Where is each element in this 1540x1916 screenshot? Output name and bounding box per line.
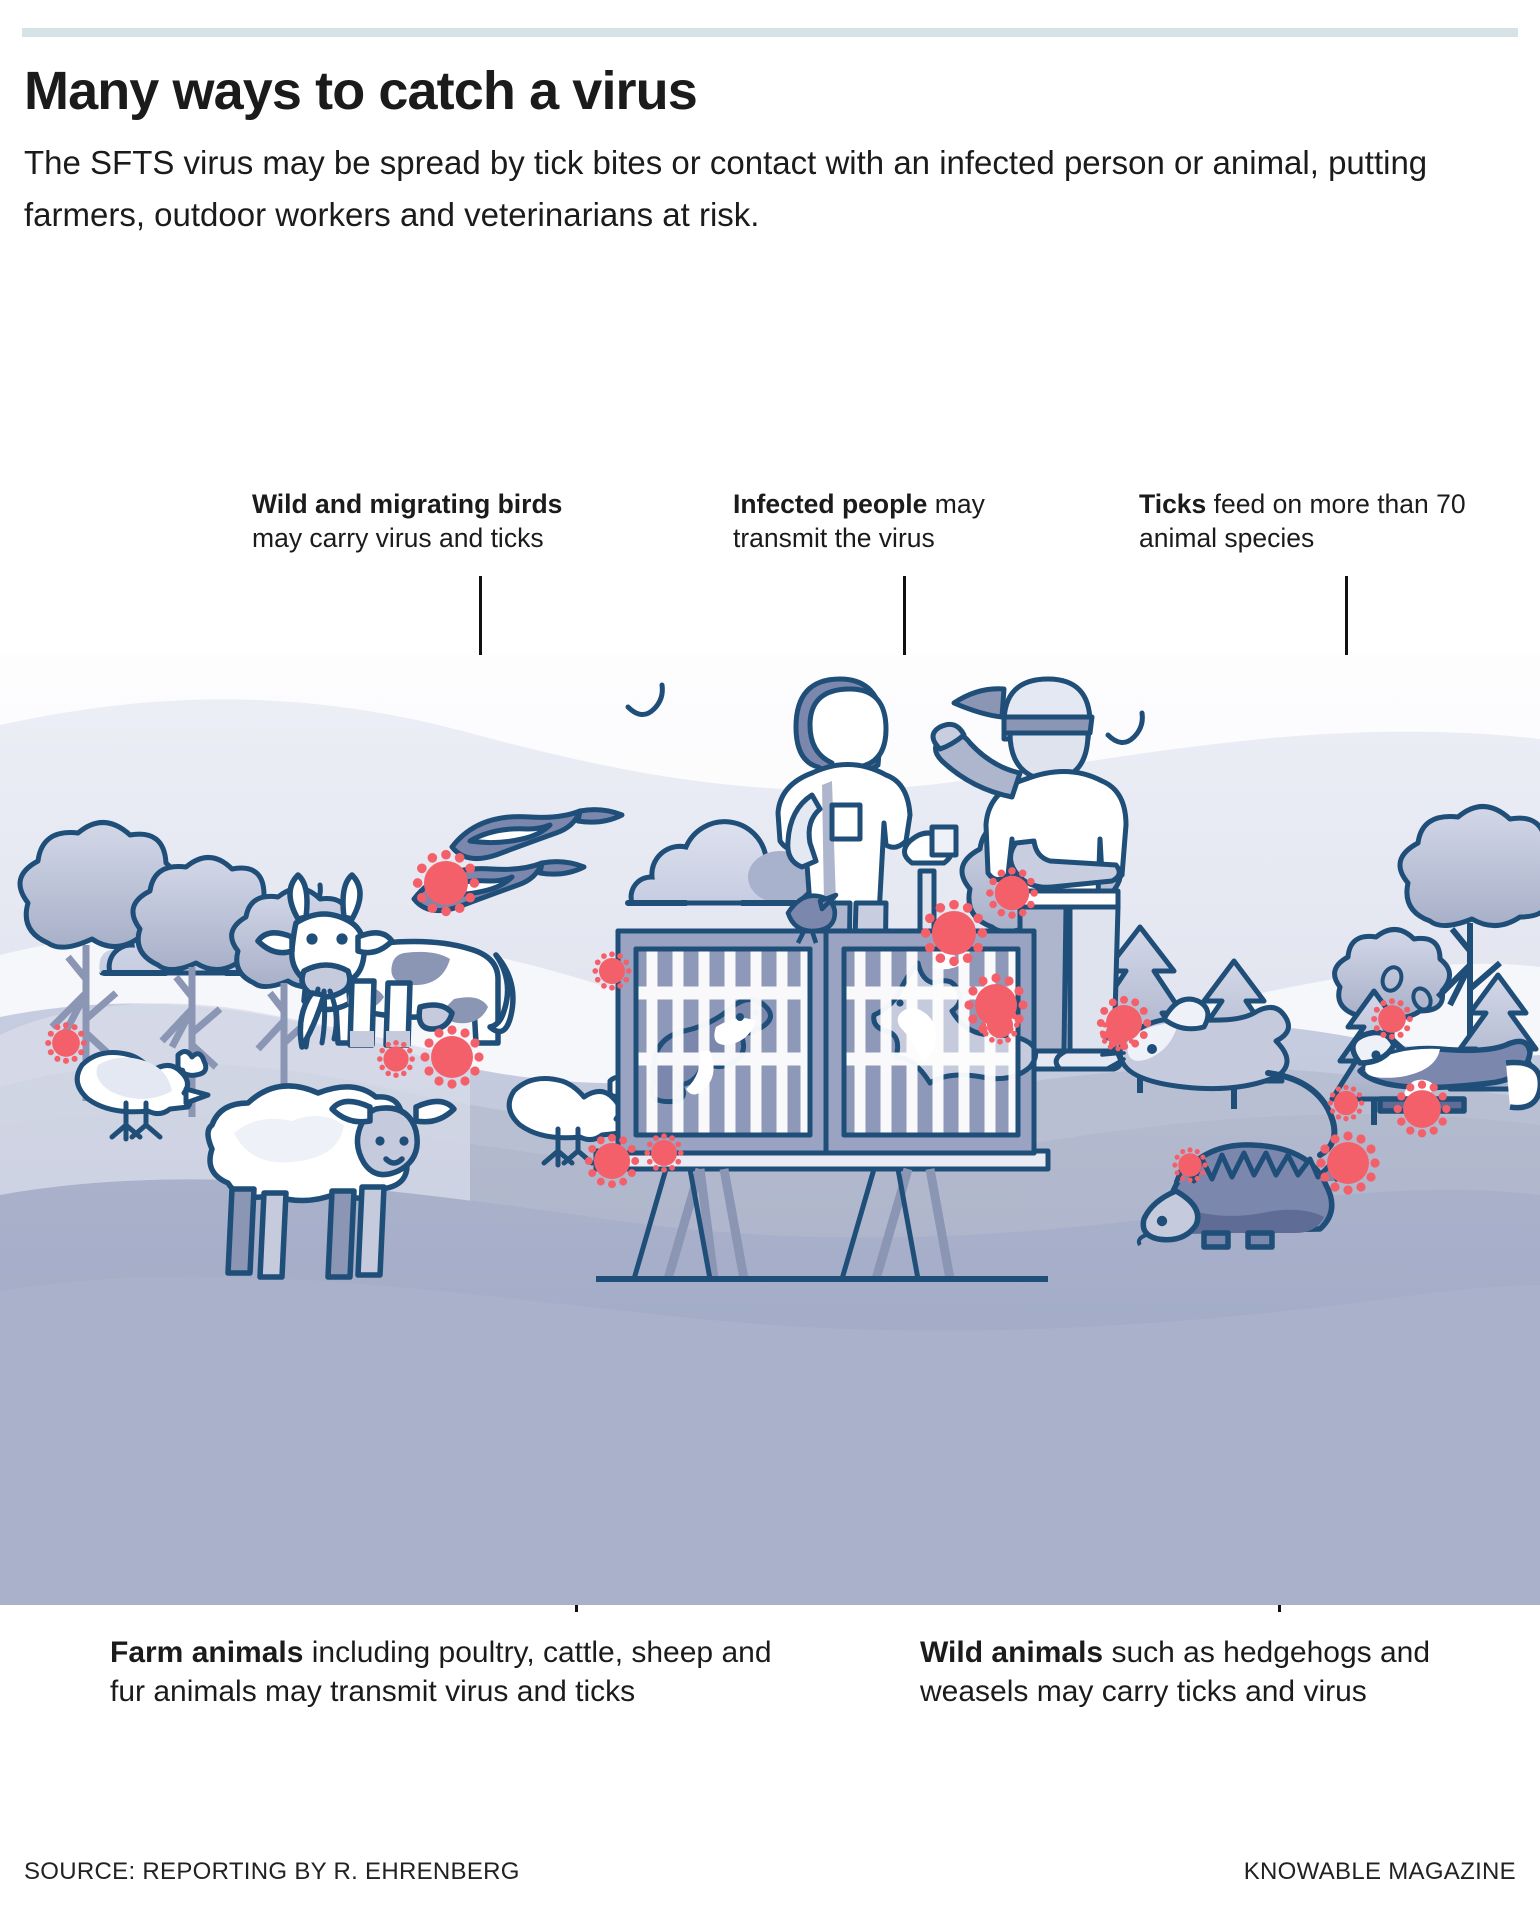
callout-bold-label: Infected people — [733, 489, 927, 519]
ground-front — [0, 1277, 1540, 1605]
caption-farm-animals: Farm animals including poultry, cattle, … — [110, 1633, 800, 1711]
caption-wild-animals: Wild animals such as hedgehogs and wease… — [920, 1633, 1480, 1711]
callout-infected-people: Infected people may transmit the virus — [733, 488, 993, 555]
caption-bold-label: Farm animals — [110, 1636, 303, 1669]
page-title: Many ways to catch a virus — [24, 62, 1494, 121]
header: Many ways to catch a virus The SFTS viru… — [24, 62, 1494, 240]
callout-wild-and-migrating-birds: Wild and migrating birds may carry virus… — [252, 488, 582, 555]
top-rule-divider — [22, 28, 1518, 37]
infographic-page: Many ways to catch a virus The SFTS viru… — [0, 0, 1540, 1916]
footer: SOURCE: REPORTING BY R. EHRENBERG KNOWAB… — [24, 1858, 1516, 1886]
callout-ticks: Ticks feed on more than 70 animal specie… — [1139, 488, 1469, 555]
caption-bold-label: Wild animals — [920, 1636, 1103, 1669]
callout-bold-label: Wild and migrating birds — [252, 489, 562, 519]
callout-bold-label: Ticks — [1139, 489, 1206, 519]
footer-publisher: KNOWABLE MAGAZINE — [1244, 1858, 1516, 1886]
page-subtitle: The SFTS virus may be spread by tick bit… — [24, 137, 1444, 239]
footer-source: SOURCE: REPORTING BY R. EHRENBERG — [24, 1858, 520, 1886]
callout-rest-label: may carry virus and ticks — [252, 523, 544, 553]
illustration-scene — [0, 655, 1540, 1605]
